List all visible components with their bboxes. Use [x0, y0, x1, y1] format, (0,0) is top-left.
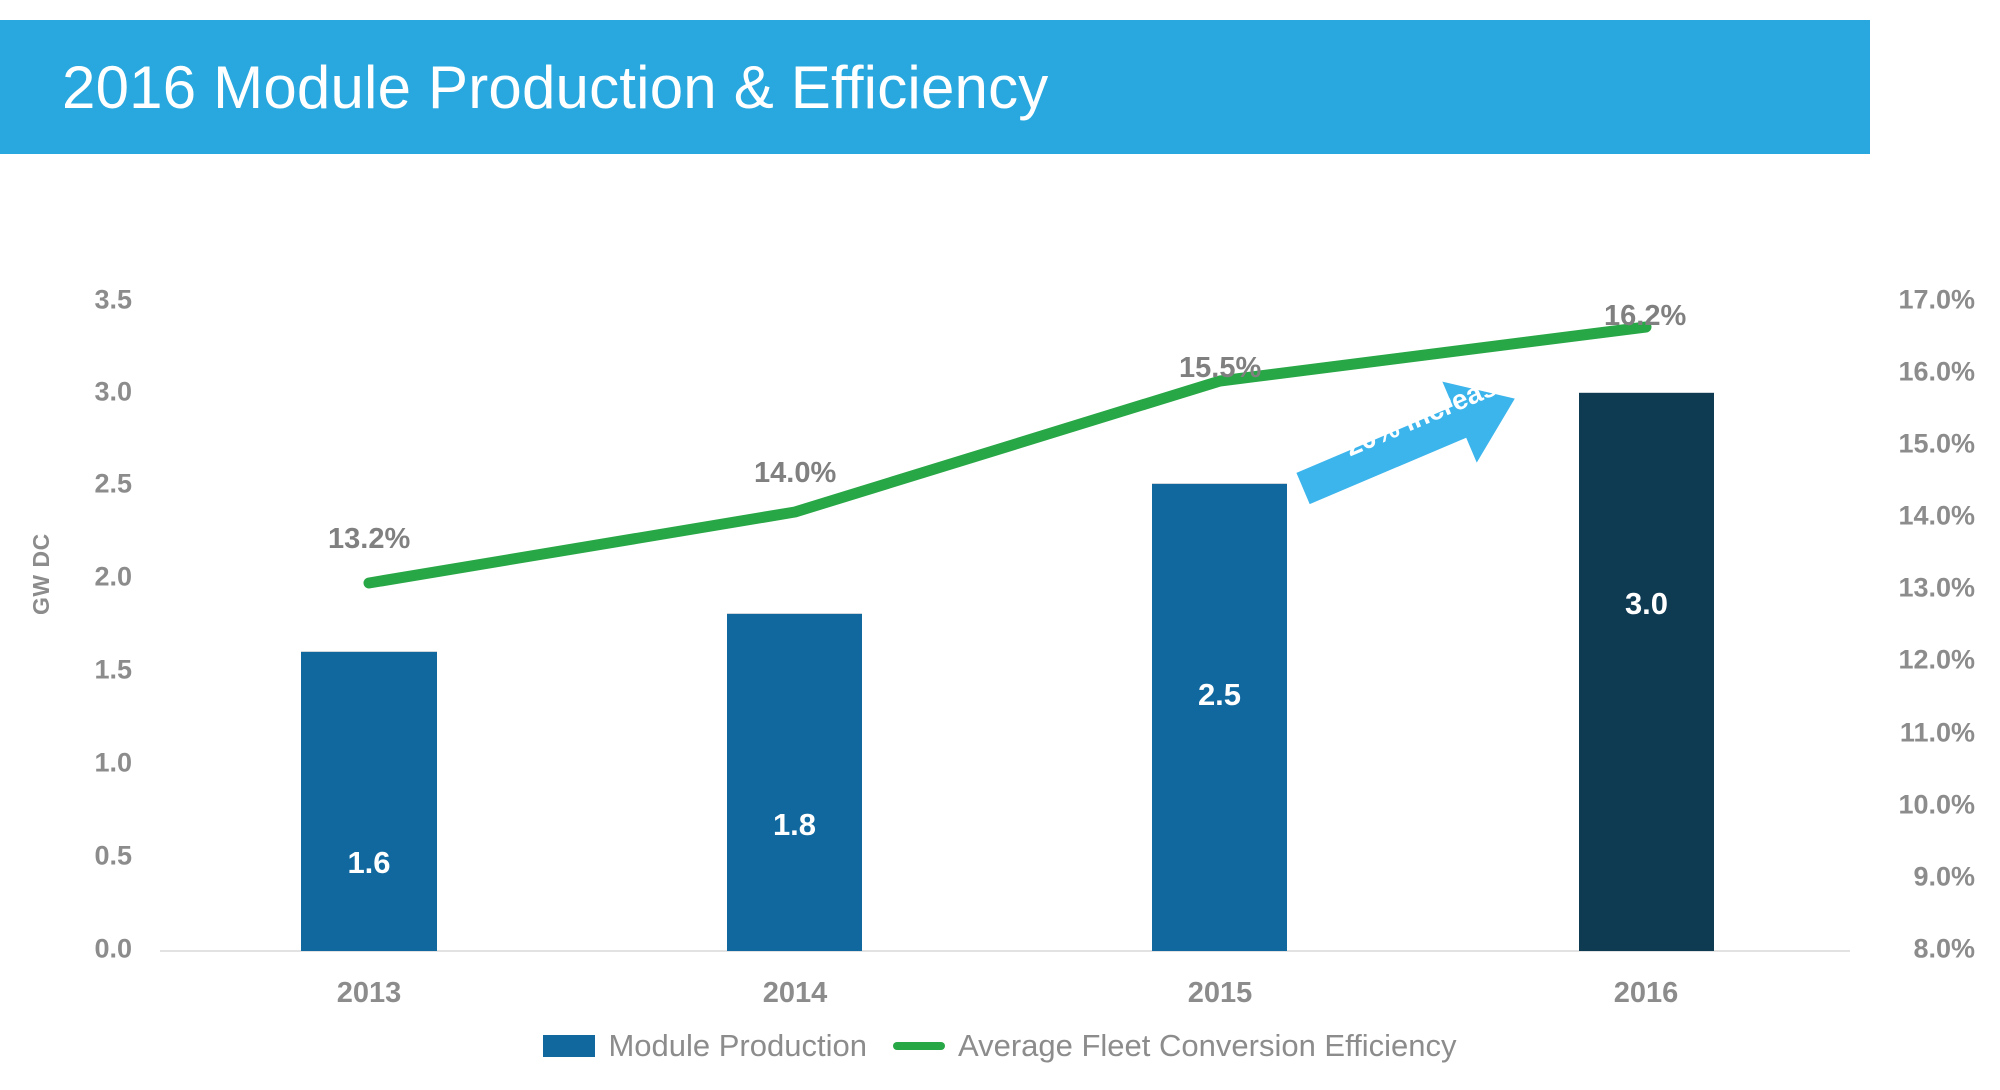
y-axis-title: GW DC [28, 533, 55, 615]
chart-legend: Module Production Average Fleet Conversi… [0, 1028, 2000, 1064]
line-data-label-2013: 13.2% [328, 523, 410, 556]
line-data-label-2014: 14.0% [754, 457, 836, 490]
y-axis-left-tick: 0.0 [42, 934, 132, 965]
legend-item-module-production[interactable]: Module Production [543, 1028, 867, 1064]
x-axis-tick-2016: 2016 [1536, 977, 1756, 1010]
square-swatch-icon [543, 1035, 595, 1057]
y-axis-right-tick: 9.0% [1845, 862, 1975, 893]
x-axis-tick-2015: 2015 [1110, 977, 1330, 1010]
y-axis-left-tick: 1.0 [42, 748, 132, 779]
header-banner: 2016 Module Production & Efficiency [0, 20, 1870, 154]
legend-label: Average Fleet Conversion Efficiency [958, 1028, 1457, 1064]
line-data-label-2016: 16.2% [1604, 300, 1686, 333]
line-data-label-2015: 15.5% [1179, 352, 1261, 385]
bar-value-label: 2.5 [1152, 677, 1287, 713]
bar-2014[interactable]: 1.8 [727, 613, 862, 951]
bar-2016[interactable]: 3.0 [1579, 392, 1714, 951]
y-axis-left-tick: 2.0 [42, 562, 132, 593]
legend-label: Module Production [608, 1028, 867, 1064]
increase-arrow-annotation [1300, 370, 1560, 520]
arrow-up-right-icon [1286, 358, 1532, 529]
y-axis-left-tick: 3.5 [42, 285, 132, 316]
bar-value-label: 1.8 [727, 807, 862, 843]
y-axis-right-tick: 10.0% [1845, 790, 1975, 821]
y-axis-right-tick: 13.0% [1845, 573, 1975, 604]
y-axis-right-tick: 15.0% [1845, 429, 1975, 460]
y-axis-left-tick: 3.0 [42, 377, 132, 408]
bar-value-label: 1.6 [301, 845, 437, 881]
y-axis-left-tick: 1.5 [42, 655, 132, 686]
y-axis-right-tick: 12.0% [1845, 645, 1975, 676]
y-axis-left-tick: 2.5 [42, 469, 132, 500]
page-title: 2016 Module Production & Efficiency [62, 53, 1048, 122]
x-axis-tick-2014: 2014 [685, 977, 905, 1010]
y-axis-right-tick: 8.0% [1845, 934, 1975, 965]
y-axis-right-tick: 16.0% [1845, 357, 1975, 388]
y-axis-right-tick: 11.0% [1845, 718, 1975, 749]
y-axis-right-tick: 14.0% [1845, 501, 1975, 532]
y-axis-left-tick: 0.5 [42, 841, 132, 872]
y-axis-right-tick: 17.0% [1845, 285, 1975, 316]
bar-2015[interactable]: 2.5 [1152, 483, 1287, 951]
legend-item-average-fleet-conversion-efficiency[interactable]: Average Fleet Conversion Efficiency [893, 1028, 1457, 1064]
x-axis-tick-2013: 2013 [259, 977, 479, 1010]
bar-2013[interactable]: 1.6 [301, 651, 437, 951]
bar-value-label: 3.0 [1579, 586, 1714, 622]
line-swatch-icon [893, 1042, 945, 1050]
